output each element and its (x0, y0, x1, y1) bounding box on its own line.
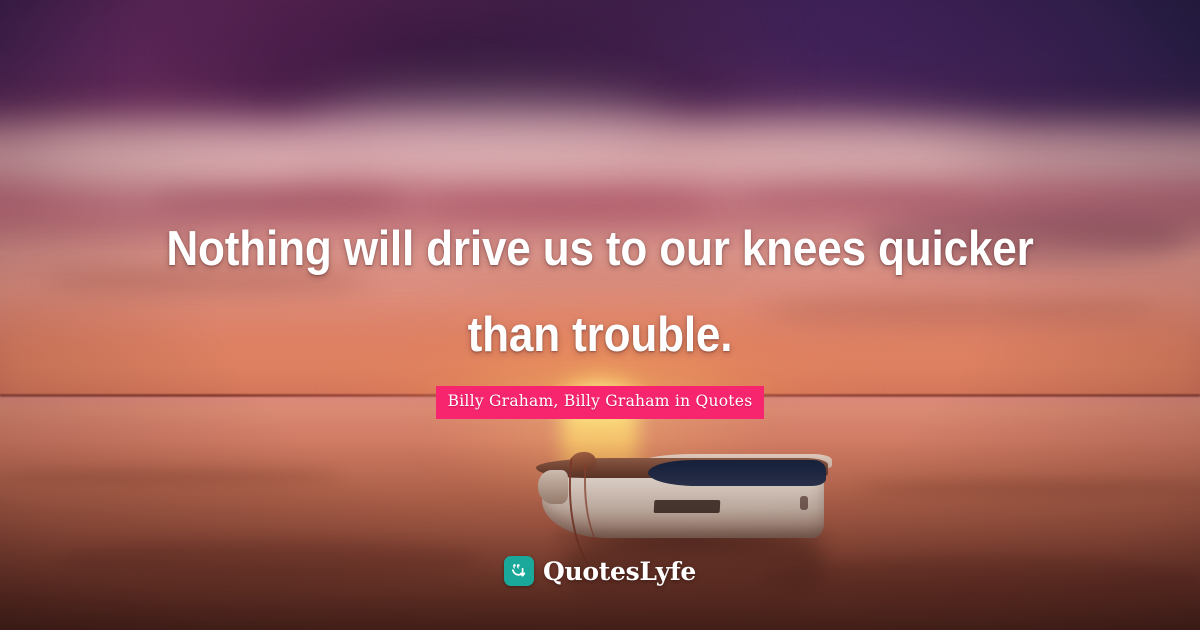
quote-card: Nothing will drive us to our knees quick… (0, 0, 1200, 630)
water-streak (860, 480, 1200, 496)
cloud-wisp (30, 128, 330, 188)
attribution-badge: Billy Graham, Billy Graham in Quotes (436, 386, 765, 419)
water-streak (0, 470, 340, 484)
quote-line-1: Nothing will drive us to our knees quick… (159, 206, 1041, 292)
boat-interior (648, 460, 826, 486)
attribution-row: Billy Graham, Billy Graham in Quotes (0, 386, 1200, 419)
quote-line-2: than trouble. (159, 292, 1041, 378)
brand-name: QuotesLyfe (543, 559, 696, 584)
rowboat (536, 448, 836, 628)
quote-text: Nothing will drive us to our knees quick… (0, 206, 1200, 378)
quote-smiley-icon (504, 556, 534, 586)
brand-logo[interactable]: QuotesLyfe (0, 556, 1200, 586)
cloud-streak (740, 186, 980, 206)
boat-bow-block (538, 470, 568, 504)
cloud-wisp (660, 120, 1000, 186)
cloud-wisp (300, 96, 680, 170)
boat-stern-fitting (800, 496, 808, 510)
boat-name-plate (654, 500, 721, 513)
